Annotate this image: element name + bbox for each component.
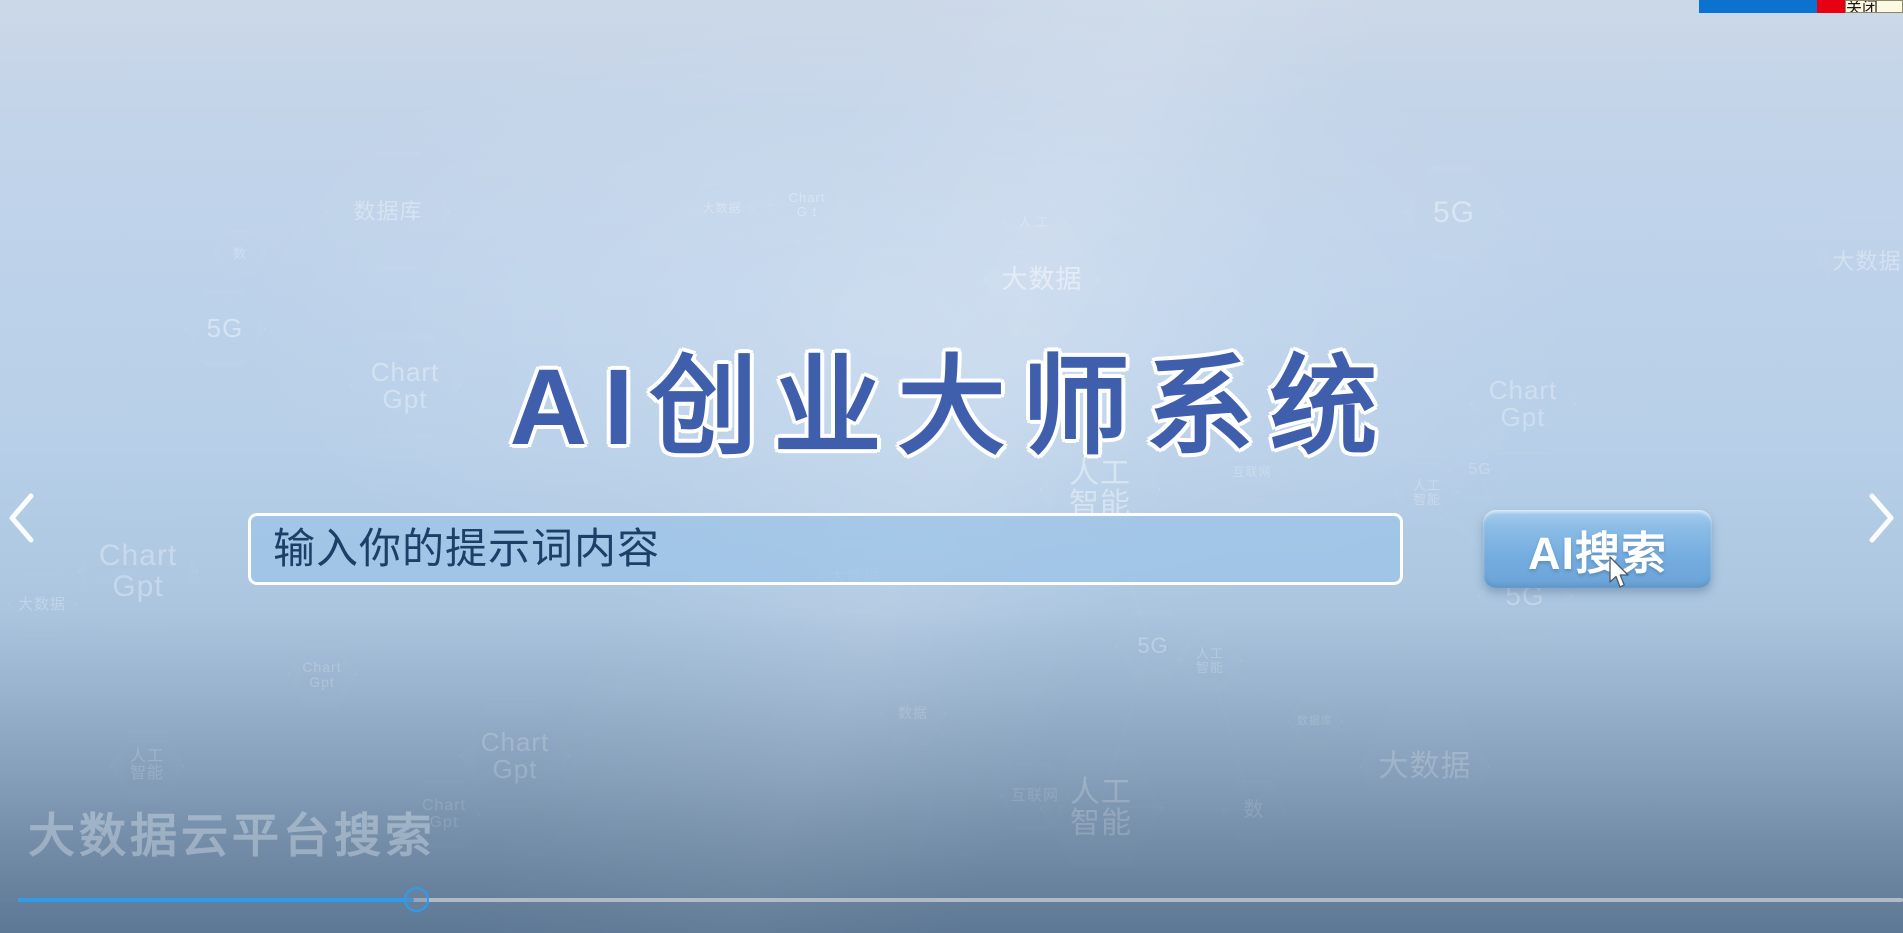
hexagon-node: 人工 智能 bbox=[1040, 746, 1162, 870]
hexagon-node: 5G bbox=[1116, 608, 1190, 683]
hexagon-node: Chart G t bbox=[768, 165, 846, 245]
hexagon-link bbox=[442, 753, 514, 813]
hexagon-node: 5G bbox=[1405, 163, 1503, 263]
hexagon-node: 数据 bbox=[880, 680, 946, 747]
progress-slider[interactable] bbox=[18, 887, 1903, 913]
ai-search-button[interactable]: AI搜索 bbox=[1483, 510, 1712, 588]
hexagon-node: 数据库 bbox=[1288, 694, 1342, 749]
hexagon-link bbox=[1208, 659, 1313, 721]
hexagon-node: Chart Gpt bbox=[78, 510, 198, 632]
close-button[interactable]: 关闭 bbox=[1845, 0, 1903, 13]
top-window-strip: 关闭 bbox=[1699, 0, 1903, 13]
hexagon-link bbox=[911, 712, 1034, 795]
hexagon-node: 大数据 bbox=[690, 176, 754, 241]
hexagon-node: 互联网 bbox=[1000, 760, 1070, 831]
hexagon-node: 大数据 bbox=[1360, 700, 1490, 833]
bottom-haze-overlay bbox=[0, 613, 1903, 933]
hexagon-link bbox=[1208, 659, 1253, 809]
hexagon-link bbox=[1314, 719, 1424, 764]
red-bar bbox=[1817, 0, 1845, 13]
hexagon-link bbox=[853, 576, 912, 712]
hexagon-link bbox=[1034, 793, 1100, 806]
page-title: AI创业大师系统 bbox=[0, 320, 1903, 476]
hexagon-link bbox=[41, 568, 137, 603]
hexagon-node: Chart Gpt bbox=[288, 640, 356, 709]
hexagon-node: 数 bbox=[1222, 778, 1286, 843]
hexagon-link bbox=[1100, 806, 1253, 810]
slider-thumb[interactable] bbox=[404, 887, 429, 912]
slider-fill bbox=[18, 898, 414, 902]
hexagon-link bbox=[239, 208, 387, 252]
hexagon-node: 数 bbox=[215, 228, 265, 279]
hexagon-node: 人 工 bbox=[1002, 190, 1066, 255]
app-root: 数据库大数据Chart G t数5GChart Gpt大数据人 工5G大数据Ch… bbox=[0, 0, 1903, 933]
hexagon-link bbox=[1253, 720, 1315, 810]
chevron-right-icon[interactable] bbox=[1859, 489, 1899, 547]
hexagon-node: Chart Gpt bbox=[408, 778, 480, 851]
hexagon-link bbox=[721, 203, 806, 208]
chevron-left-icon[interactable] bbox=[4, 489, 44, 547]
hexagon-node: Chart Gpt bbox=[460, 700, 570, 812]
hexagon-link bbox=[1099, 644, 1152, 806]
hexagon-link bbox=[223, 252, 239, 327]
hexagon-node: 大数据 bbox=[1818, 212, 1903, 312]
prompt-input[interactable] bbox=[248, 513, 1403, 585]
hexagon-node: 大数据 bbox=[8, 570, 76, 639]
hexagon-node: 数据库 bbox=[326, 148, 450, 274]
blue-bar bbox=[1699, 0, 1817, 13]
watermark-text: 大数据云平台搜索 bbox=[28, 797, 436, 866]
search-row: AI搜索 bbox=[248, 510, 1712, 588]
hexagon-node: 人工 智能 bbox=[110, 728, 184, 803]
hexagon-node: 人工 智能 bbox=[1178, 628, 1242, 693]
